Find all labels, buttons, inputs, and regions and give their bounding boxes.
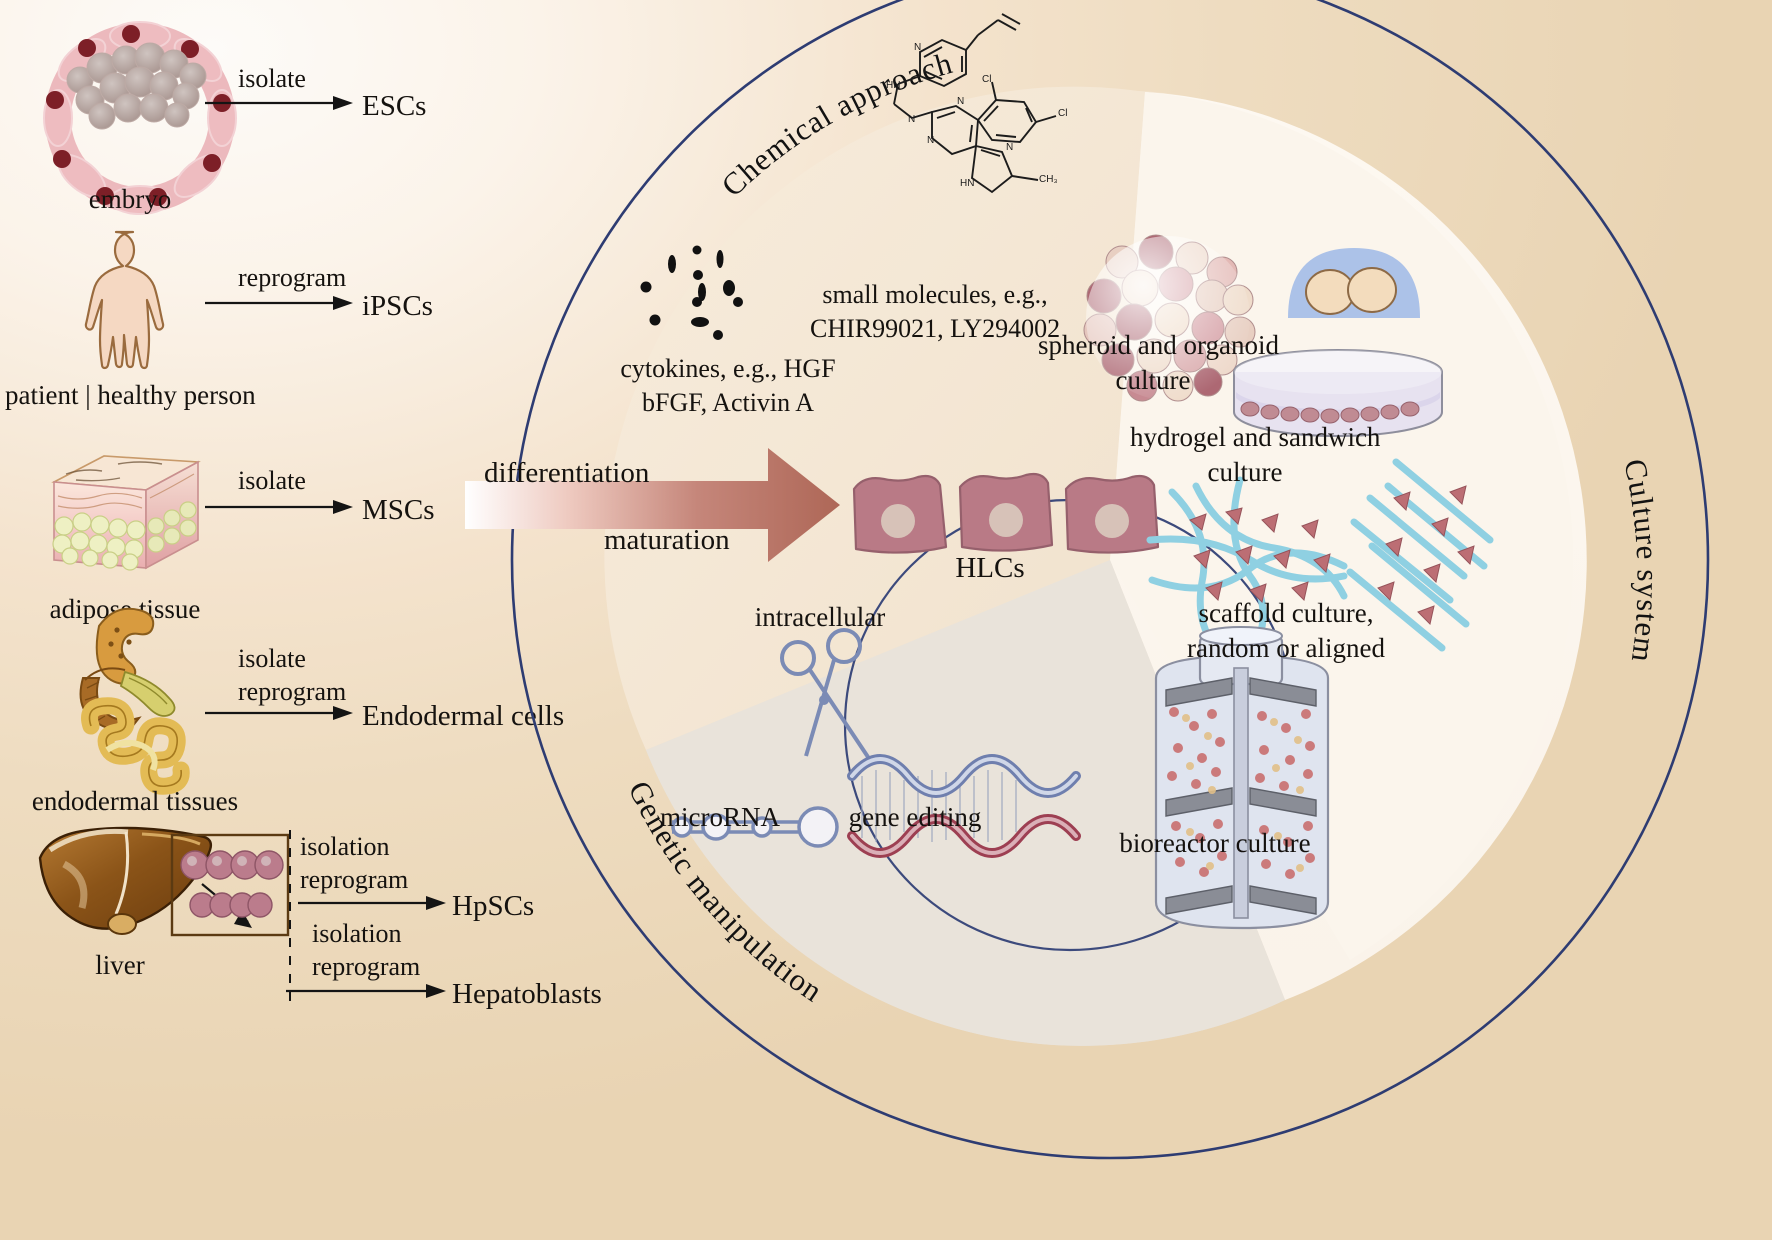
arrow-row-6 bbox=[286, 976, 448, 1006]
hlc-cells-icon bbox=[854, 474, 1158, 553]
svg-text:Cl: Cl bbox=[982, 74, 991, 85]
endodermal-organs-icon bbox=[55, 600, 235, 785]
svg-text:N: N bbox=[957, 96, 964, 107]
figure-canvas: embryo isolate ESCs patient | healthy pe… bbox=[0, 0, 1772, 1240]
label-gene-editing: gene editing bbox=[810, 800, 1020, 835]
caption-bioreactor: bioreactor culture bbox=[1090, 826, 1340, 861]
label-differentiation: differentiation bbox=[484, 455, 649, 492]
caption-hydrogel-sandwich: hydrogel and sandwich culture bbox=[1130, 420, 1360, 490]
caption-small-molecules: small molecules, e.g., CHIR99021, LY2940… bbox=[810, 278, 1060, 346]
output-label-escs: ESCs bbox=[362, 88, 426, 125]
svg-text:Cl: Cl bbox=[1058, 108, 1067, 119]
arrow-row-3 bbox=[205, 492, 355, 522]
arrow-row-2 bbox=[205, 288, 355, 318]
label-microrna: microRNA bbox=[620, 800, 820, 835]
arrow-row-4 bbox=[205, 698, 355, 728]
output-label-ipscs: iPSCs bbox=[362, 288, 433, 325]
process-label-isolation-reprogram-1: isolation reprogram bbox=[300, 830, 408, 897]
human-body-icon bbox=[68, 228, 198, 373]
bioreactor-icon bbox=[1156, 627, 1328, 928]
label-maturation: maturation bbox=[604, 522, 730, 559]
source-label-person: patient | healthy person bbox=[5, 378, 255, 413]
arrow-row-1 bbox=[205, 88, 355, 118]
caption-scaffold: scaffold culture, random or aligned bbox=[1176, 596, 1396, 666]
svg-text:HN: HN bbox=[960, 178, 974, 189]
svg-text:N: N bbox=[1006, 142, 1013, 153]
arrow-row-5 bbox=[298, 888, 448, 918]
svg-text:N: N bbox=[908, 114, 915, 125]
adipose-tissue-icon bbox=[46, 448, 206, 578]
source-label-liver: liver bbox=[40, 948, 200, 983]
caption-cytokines: cytokines, e.g., HGF bFGF, Activin A bbox=[598, 352, 858, 420]
output-label-mscs: MSCs bbox=[362, 492, 435, 529]
caption-spheroid-organoid: spheroid and organoid culture bbox=[1038, 328, 1268, 398]
source-label-endodermal: endodermal tissues bbox=[0, 784, 270, 819]
svg-text:N: N bbox=[927, 135, 934, 146]
label-hlcs: HLCs bbox=[880, 550, 1100, 587]
circular-diagram: Chemical approach Genetic manipulation C… bbox=[450, 0, 1772, 1240]
source-label-embryo: embryo bbox=[20, 182, 240, 217]
svg-text:CH₃: CH₃ bbox=[1039, 174, 1058, 185]
label-intracellular: intracellular bbox=[700, 600, 940, 635]
liver-cells-icon bbox=[170, 833, 290, 938]
svg-text:HN: HN bbox=[886, 80, 900, 91]
svg-text:N: N bbox=[914, 42, 921, 53]
process-label-isolation-reprogram-2: isolation reprogram bbox=[312, 917, 420, 984]
